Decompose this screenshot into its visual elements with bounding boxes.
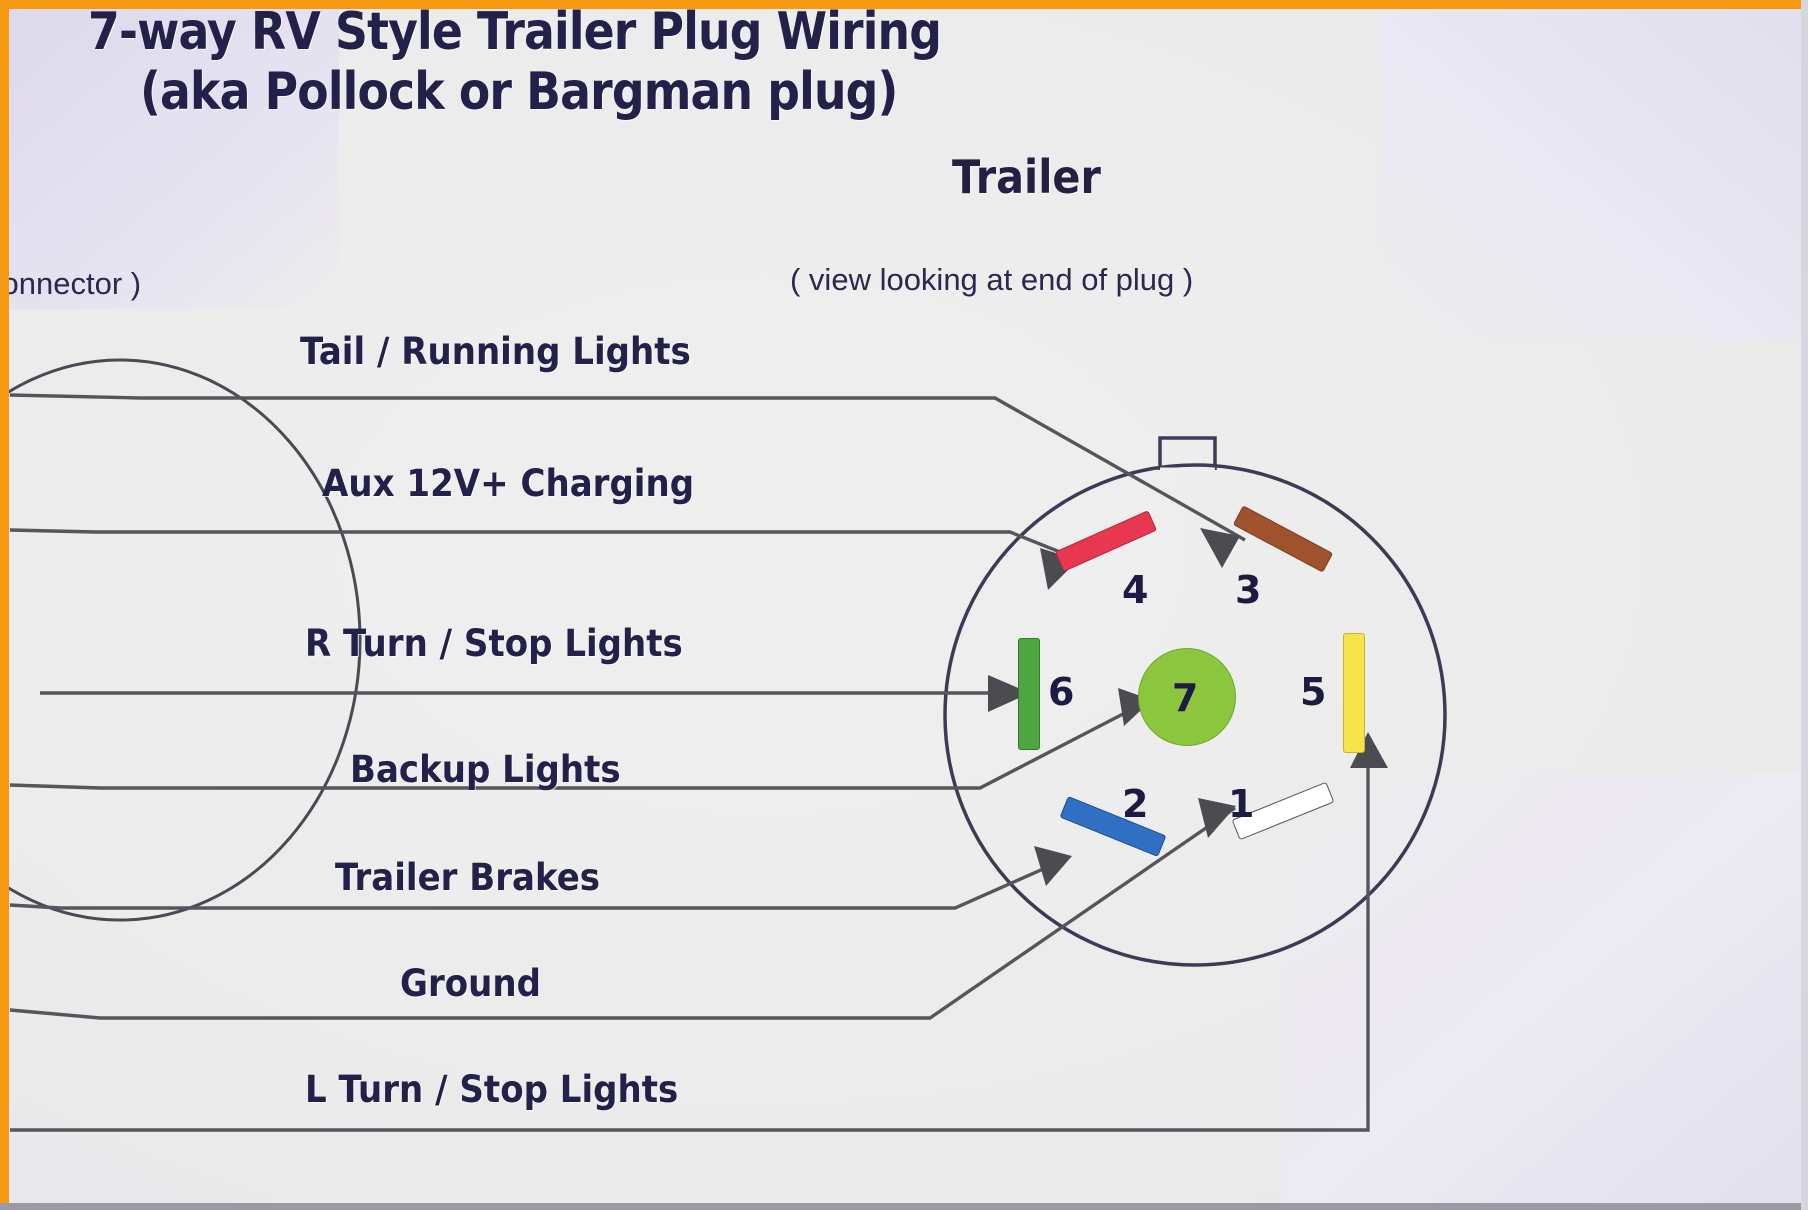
pin-number-7: 7: [1172, 676, 1198, 720]
pin-number-1: 1: [1228, 782, 1254, 826]
wire-label-tail-running-lights: Tail / Running Lights: [300, 330, 691, 373]
diagram-canvas: 4 3 6 5 7 2 1 7-way RV Style Trailer Plu…: [0, 0, 1808, 1210]
view-note: ( view looking at end of plug ): [790, 262, 1193, 298]
trailer-heading: Trailer: [952, 150, 1101, 204]
page-title-line2: (aka Pollock or Bargman plug): [140, 62, 898, 122]
pin-number-3: 3: [1235, 568, 1261, 612]
frame-border-bottom: [0, 1203, 1808, 1210]
wire-label-trailer-brakes: Trailer Brakes: [335, 856, 600, 899]
pin-number-5: 5: [1300, 670, 1326, 714]
page-title-line1: 7-way RV Style Trailer Plug Wiring: [88, 2, 941, 62]
frame-border-left: [0, 0, 9, 1210]
pin-number-6: 6: [1048, 670, 1074, 714]
connector-note: connector ): [0, 266, 141, 302]
wire-label-backup-lights: Backup Lights: [350, 748, 621, 791]
frame-border-top: [0, 0, 1808, 9]
pin-6-blade: [1018, 638, 1040, 750]
pin-5-blade: [1343, 633, 1365, 753]
wire-label-aux-charging: Aux 12V+ Charging: [322, 462, 694, 505]
pin-number-4: 4: [1122, 568, 1148, 612]
pin-number-2: 2: [1122, 782, 1148, 826]
wiring-lines: [0, 0, 1808, 1210]
wire-label-right-turn-stop: R Turn / Stop Lights: [305, 622, 683, 665]
frame-border-right: [1801, 0, 1808, 1210]
wire-label-left-turn-stop: L Turn / Stop Lights: [305, 1068, 678, 1111]
wire-label-ground: Ground: [400, 962, 541, 1005]
